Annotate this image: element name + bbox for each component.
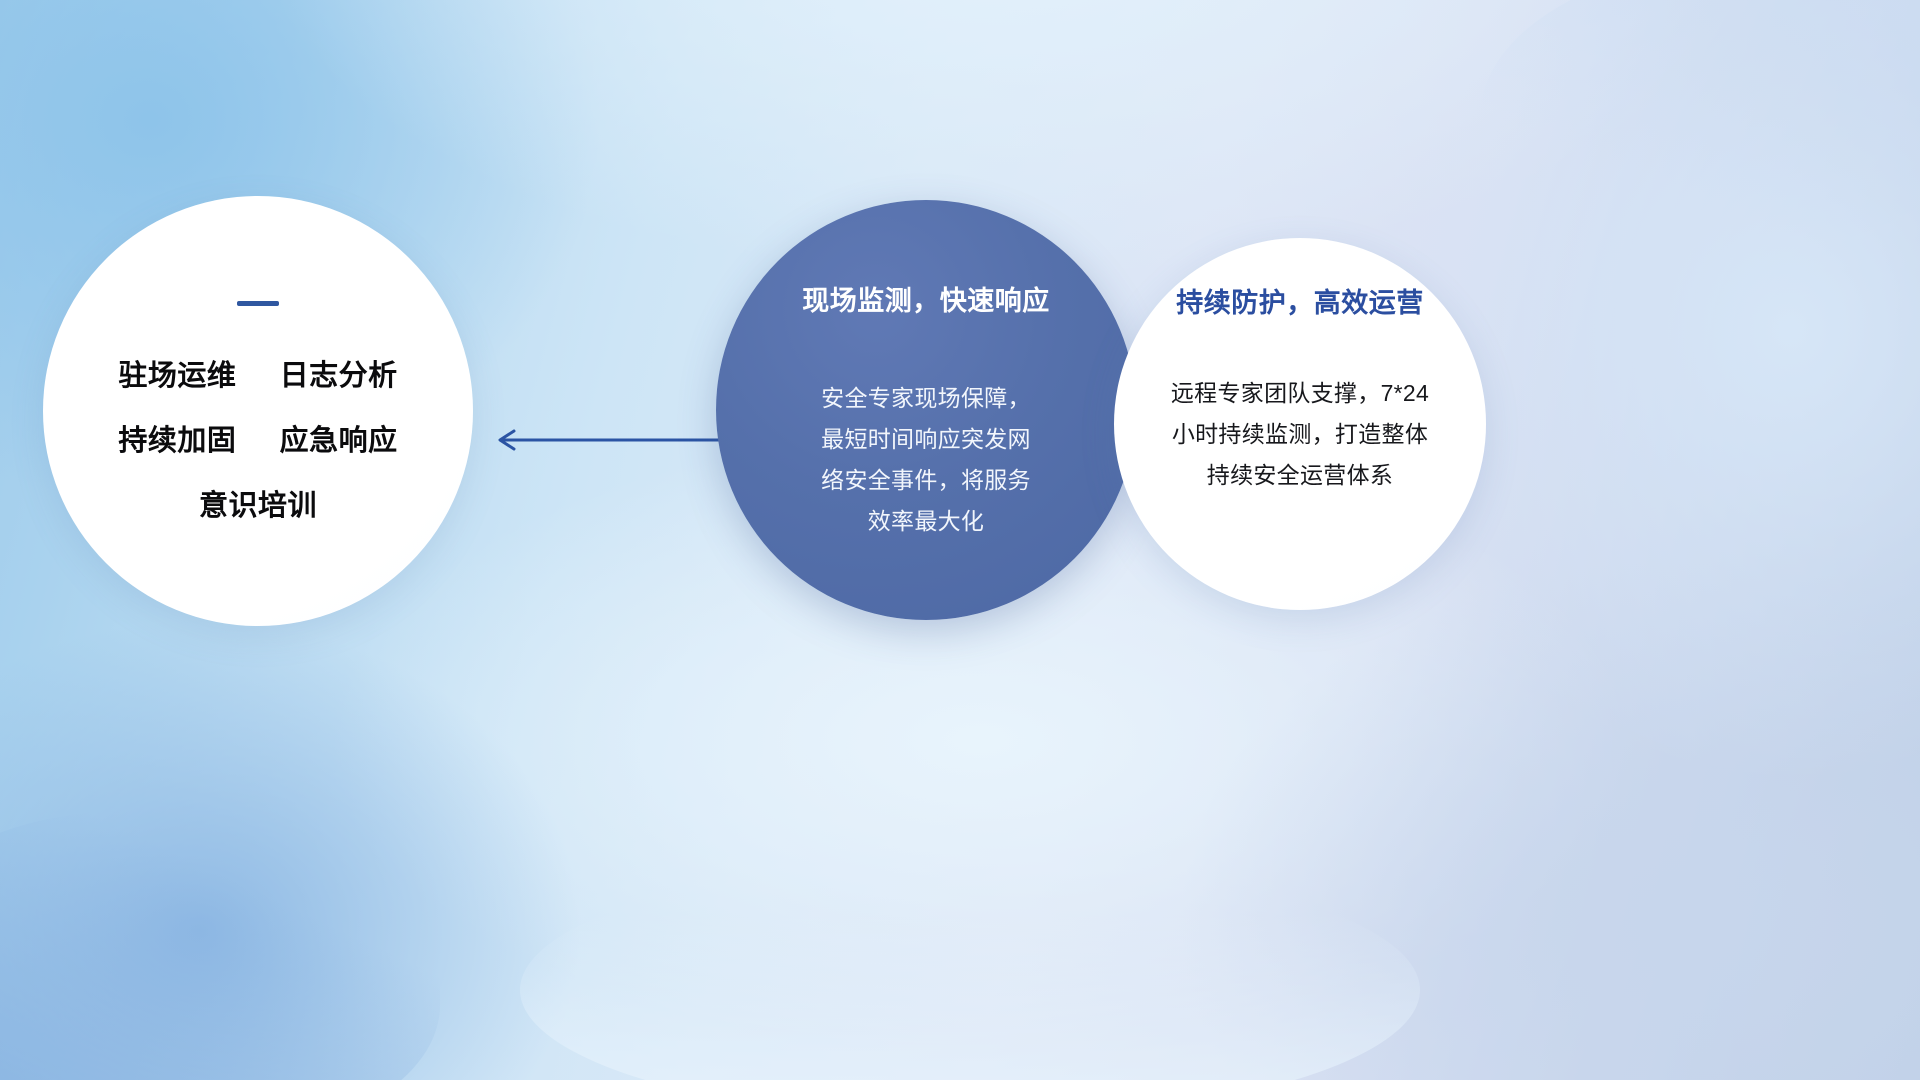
circle-body-text: 远程专家团队支撑，7*24 小时持续监测，打造整体 持续安全运营体系 [1171,373,1429,496]
service-circle-remote: 持续防护，高效运营 远程专家团队支撑，7*24 小时持续监测，打造整体 持续安全… [1114,238,1486,610]
capability-label: 应急响应 [280,425,398,457]
background-band-top-right [1480,0,1920,260]
body-line: 持续安全运营体系 [1171,455,1429,496]
capability-label: 驻场运维 [118,360,236,392]
capability-row: 意识培训 [199,492,317,521]
body-line: 效率最大化 [821,501,1031,542]
body-line: 络安全事件，将服务 [821,460,1031,501]
body-line: 安全专家现场保障， [821,378,1031,419]
arrow-left-icon [500,431,734,449]
background-glow-bottom-right [1180,560,1920,1080]
service-circle-onsite: 现场监测，快速响应 安全专家现场保障， 最短时间响应突发网 络安全事件，将服务 … [716,200,1136,620]
capability-label: 意识培训 [199,490,317,522]
capability-row: 持续加固 应急响应 [118,427,397,456]
capability-circle-left: 驻场运维 日志分析 持续加固 应急响应 意识培训 [43,196,473,626]
body-line: 小时持续监测，打造整体 [1171,414,1429,455]
circle-body-text: 安全专家现场保障， 最短时间响应突发网 络安全事件，将服务 效率最大化 [821,378,1031,542]
circle-title: 持续防护，高效运营 [1176,290,1424,317]
divider-dash [237,301,279,306]
capability-row: 驻场运维 日志分析 [118,362,397,391]
capability-label: 日志分析 [280,360,398,392]
background-band-bottom [520,860,1420,1080]
body-line: 远程专家团队支撑，7*24 [1171,373,1429,414]
body-line: 最短时间响应突发网 [821,419,1031,460]
background-glow-bottom-left [0,620,580,1080]
circle-title: 现场监测，快速响应 [802,288,1050,315]
connector-arrow [484,418,734,462]
background-band-bottom-left [0,810,440,1080]
capability-label: 持续加固 [118,425,236,457]
